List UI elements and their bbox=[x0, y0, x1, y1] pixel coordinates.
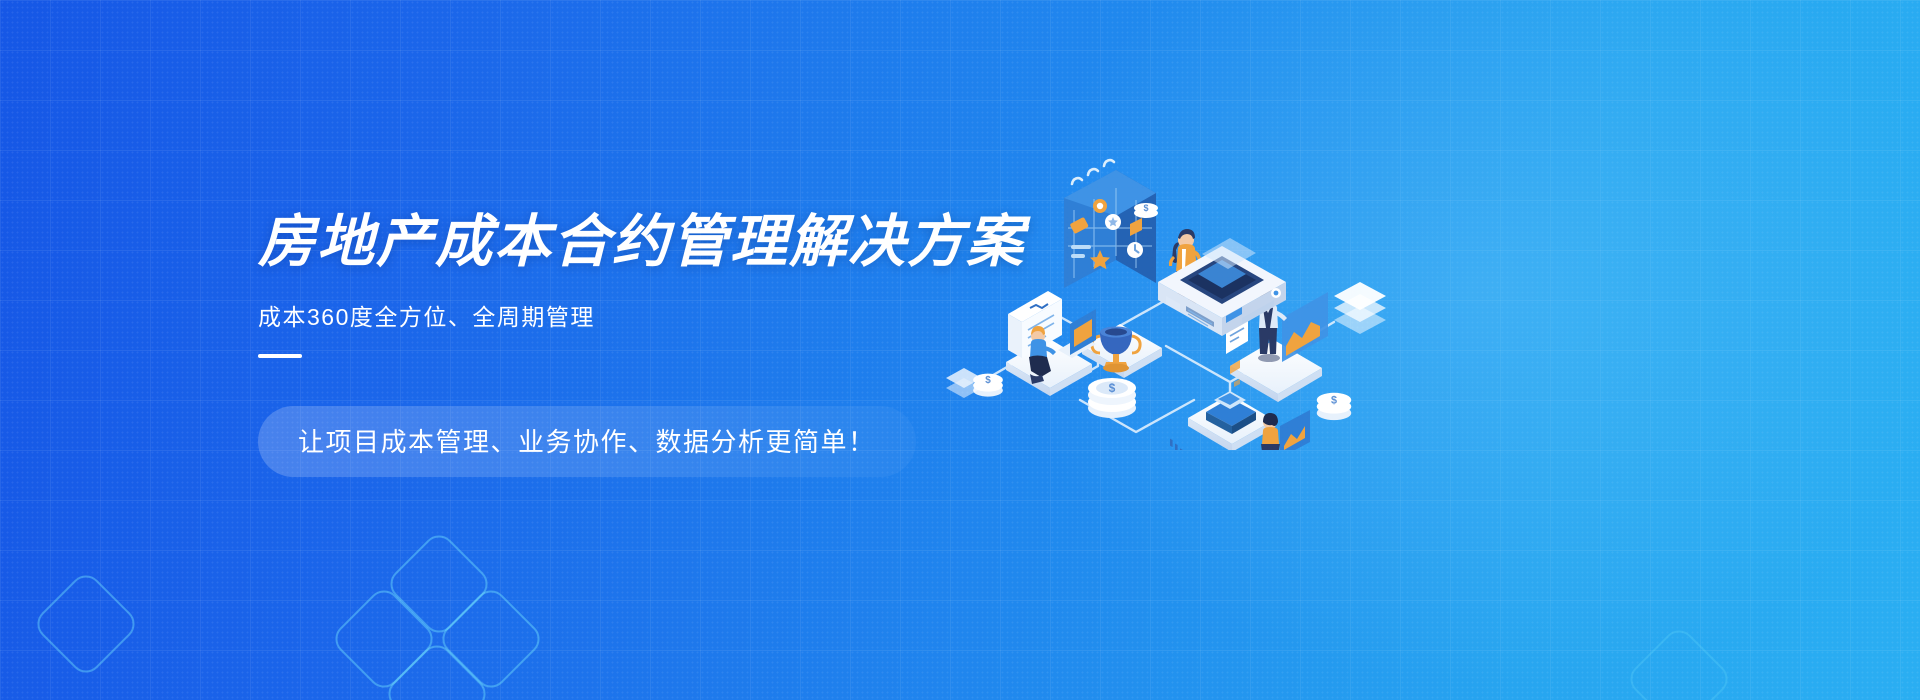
data-cube-node bbox=[1188, 391, 1274, 450]
hero-banner: 房地产成本合约管理解决方案 成本360度全方位、全周期管理 让项目成本管理、业务… bbox=[0, 0, 1920, 700]
isometric-illustration: $ $ $ $ bbox=[930, 150, 1400, 450]
stacked-layers-icon bbox=[1334, 282, 1386, 334]
person-yellow-skirt bbox=[1261, 410, 1310, 450]
svg-text:$: $ bbox=[1109, 381, 1116, 395]
svg-text:$: $ bbox=[985, 375, 991, 386]
tagline-pill: 让项目成本管理、业务协作、数据分析更简单！ bbox=[258, 406, 916, 477]
chart-panel-icon bbox=[1282, 150, 1328, 362]
calendar-board-icon bbox=[1064, 160, 1156, 288]
svg-text:$: $ bbox=[1331, 395, 1337, 407]
laptop-desk-node bbox=[1006, 291, 1096, 396]
svg-text:$: $ bbox=[1143, 203, 1148, 213]
title-divider bbox=[258, 354, 302, 358]
